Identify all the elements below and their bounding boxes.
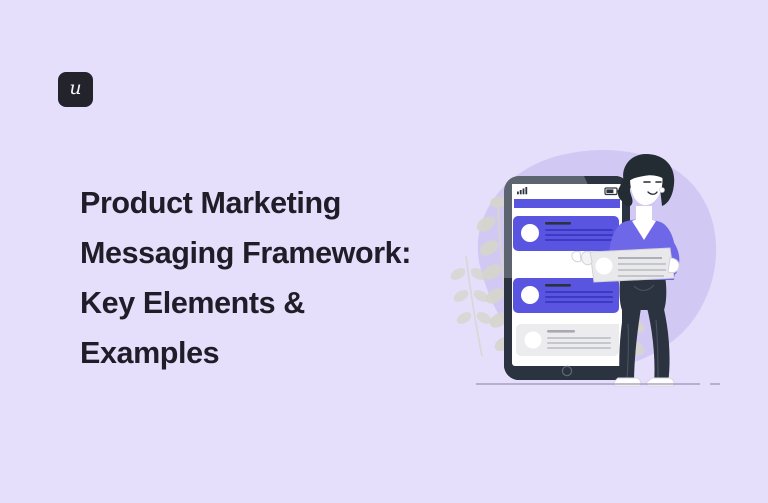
chat-avatar (525, 332, 542, 349)
chat-bubble-3 (516, 324, 619, 356)
page-canvas: u Product Marketing Messaging Framework:… (0, 0, 768, 503)
chat-avatar (521, 286, 539, 304)
chat-avatar (521, 224, 539, 242)
chat-bubble-1 (513, 216, 619, 251)
shoes-icon (614, 378, 674, 386)
hero-illustration (448, 128, 744, 420)
brand-logo[interactable]: u (58, 72, 93, 107)
phone-app-header-bar (514, 199, 620, 208)
phone-status-bar (512, 184, 622, 197)
logo-u-icon: u (69, 79, 81, 98)
chat-bubble-2 (513, 278, 619, 313)
page-title: Product Marketing Messaging Framework: K… (80, 178, 450, 378)
